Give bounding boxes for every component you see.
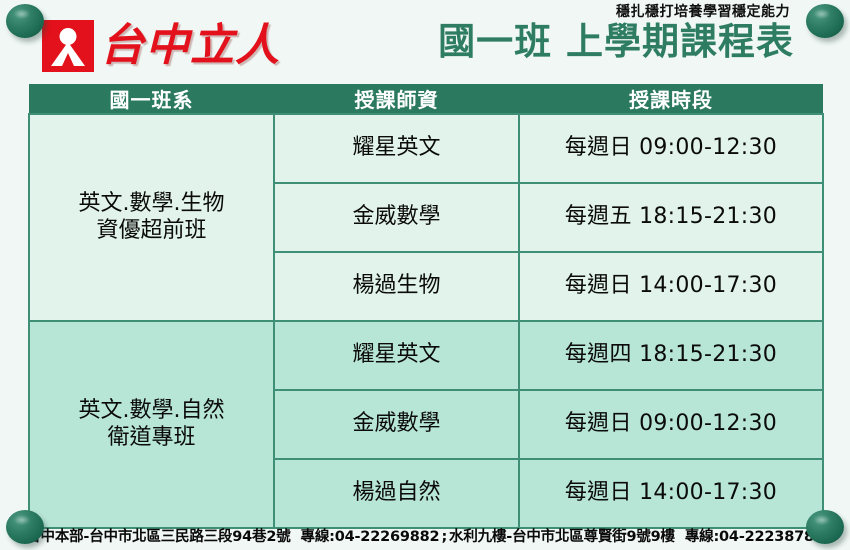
schedule-table: 國一班系 授課師資 授課時段 英文.數學.生物 資優超前班 耀星英文 每週日 0… xyxy=(28,84,824,529)
footer-branch2-phone: 專線:04-22238788 xyxy=(685,529,824,545)
corner-stud-bottom-right xyxy=(806,510,844,544)
tagline: 穩扎穩打培養學習穩定能力 xyxy=(438,4,790,21)
teacher-cell: 金威數學 xyxy=(274,183,519,252)
slot-cell: 每週日 09:00-12:30 xyxy=(519,114,823,183)
teacher-cell: 耀星英文 xyxy=(274,114,519,183)
class-group-name-b-line2: 衛道專班 xyxy=(30,425,273,452)
column-header-teacher: 授課師資 xyxy=(274,84,519,114)
slot-cell: 每週日 09:00-12:30 xyxy=(519,390,823,459)
slot-cell: 每週日 14:00-17:30 xyxy=(519,252,823,321)
teacher-cell: 金威數學 xyxy=(274,390,519,459)
brand-name: 台中立人 xyxy=(100,24,280,68)
corner-stud-bottom-left xyxy=(6,510,44,544)
page-title: 國一班 上學期課程表 xyxy=(438,21,794,62)
teacher-cell: 楊過自然 xyxy=(274,459,519,528)
corner-stud-top-left xyxy=(6,4,44,38)
corner-stud-top-right xyxy=(806,4,844,38)
footer-branch2-address: 水利九樓-台中市北區尊賢街9號9樓 xyxy=(449,529,675,545)
page-footer: 台中本部-台中市北區三民路三段94巷2號專線:04-22269882;水利九樓-… xyxy=(0,525,850,546)
person-logo-legs-gap xyxy=(62,53,74,66)
class-group-name-b: 英文.數學.自然 衛道專班 xyxy=(29,321,274,528)
footer-branch1-phone: 專線:04-22269882 xyxy=(301,529,440,545)
brand-logo: 台中立人 xyxy=(42,20,280,72)
footer-separator: ; xyxy=(439,529,449,545)
column-header-slot: 授課時段 xyxy=(519,84,823,114)
class-group-name-a: 英文.數學.生物 資優超前班 xyxy=(29,114,274,321)
slot-cell: 每週四 18:15-21:30 xyxy=(519,321,823,390)
column-header-class: 國一班系 xyxy=(29,84,274,114)
class-group-name-a-line1: 英文.數學.生物 xyxy=(30,191,273,218)
person-logo-icon xyxy=(42,20,94,72)
page-header: 台中立人 穩扎穩打培養學習穩定能力 國一班 上學期課程表 xyxy=(0,0,850,84)
footer-branch1-address: 台中本部-台中市北區三民路三段94巷2號 xyxy=(26,529,290,545)
table-header-row: 國一班系 授課師資 授課時段 xyxy=(29,84,823,114)
class-group-name-b-line1: 英文.數學.自然 xyxy=(30,398,273,425)
class-group-name-a-line2: 資優超前班 xyxy=(30,218,273,245)
teacher-cell: 楊過生物 xyxy=(274,252,519,321)
slot-cell: 每週日 14:00-17:30 xyxy=(519,459,823,528)
title-block: 穩扎穩打培養學習穩定能力 國一班 上學期課程表 xyxy=(438,4,794,62)
slot-cell: 每週五 18:15-21:30 xyxy=(519,183,823,252)
teacher-cell: 耀星英文 xyxy=(274,321,519,390)
table-row: 英文.數學.生物 資優超前班 耀星英文 每週日 09:00-12:30 xyxy=(29,114,823,183)
table-row: 英文.數學.自然 衛道專班 耀星英文 每週四 18:15-21:30 xyxy=(29,321,823,390)
